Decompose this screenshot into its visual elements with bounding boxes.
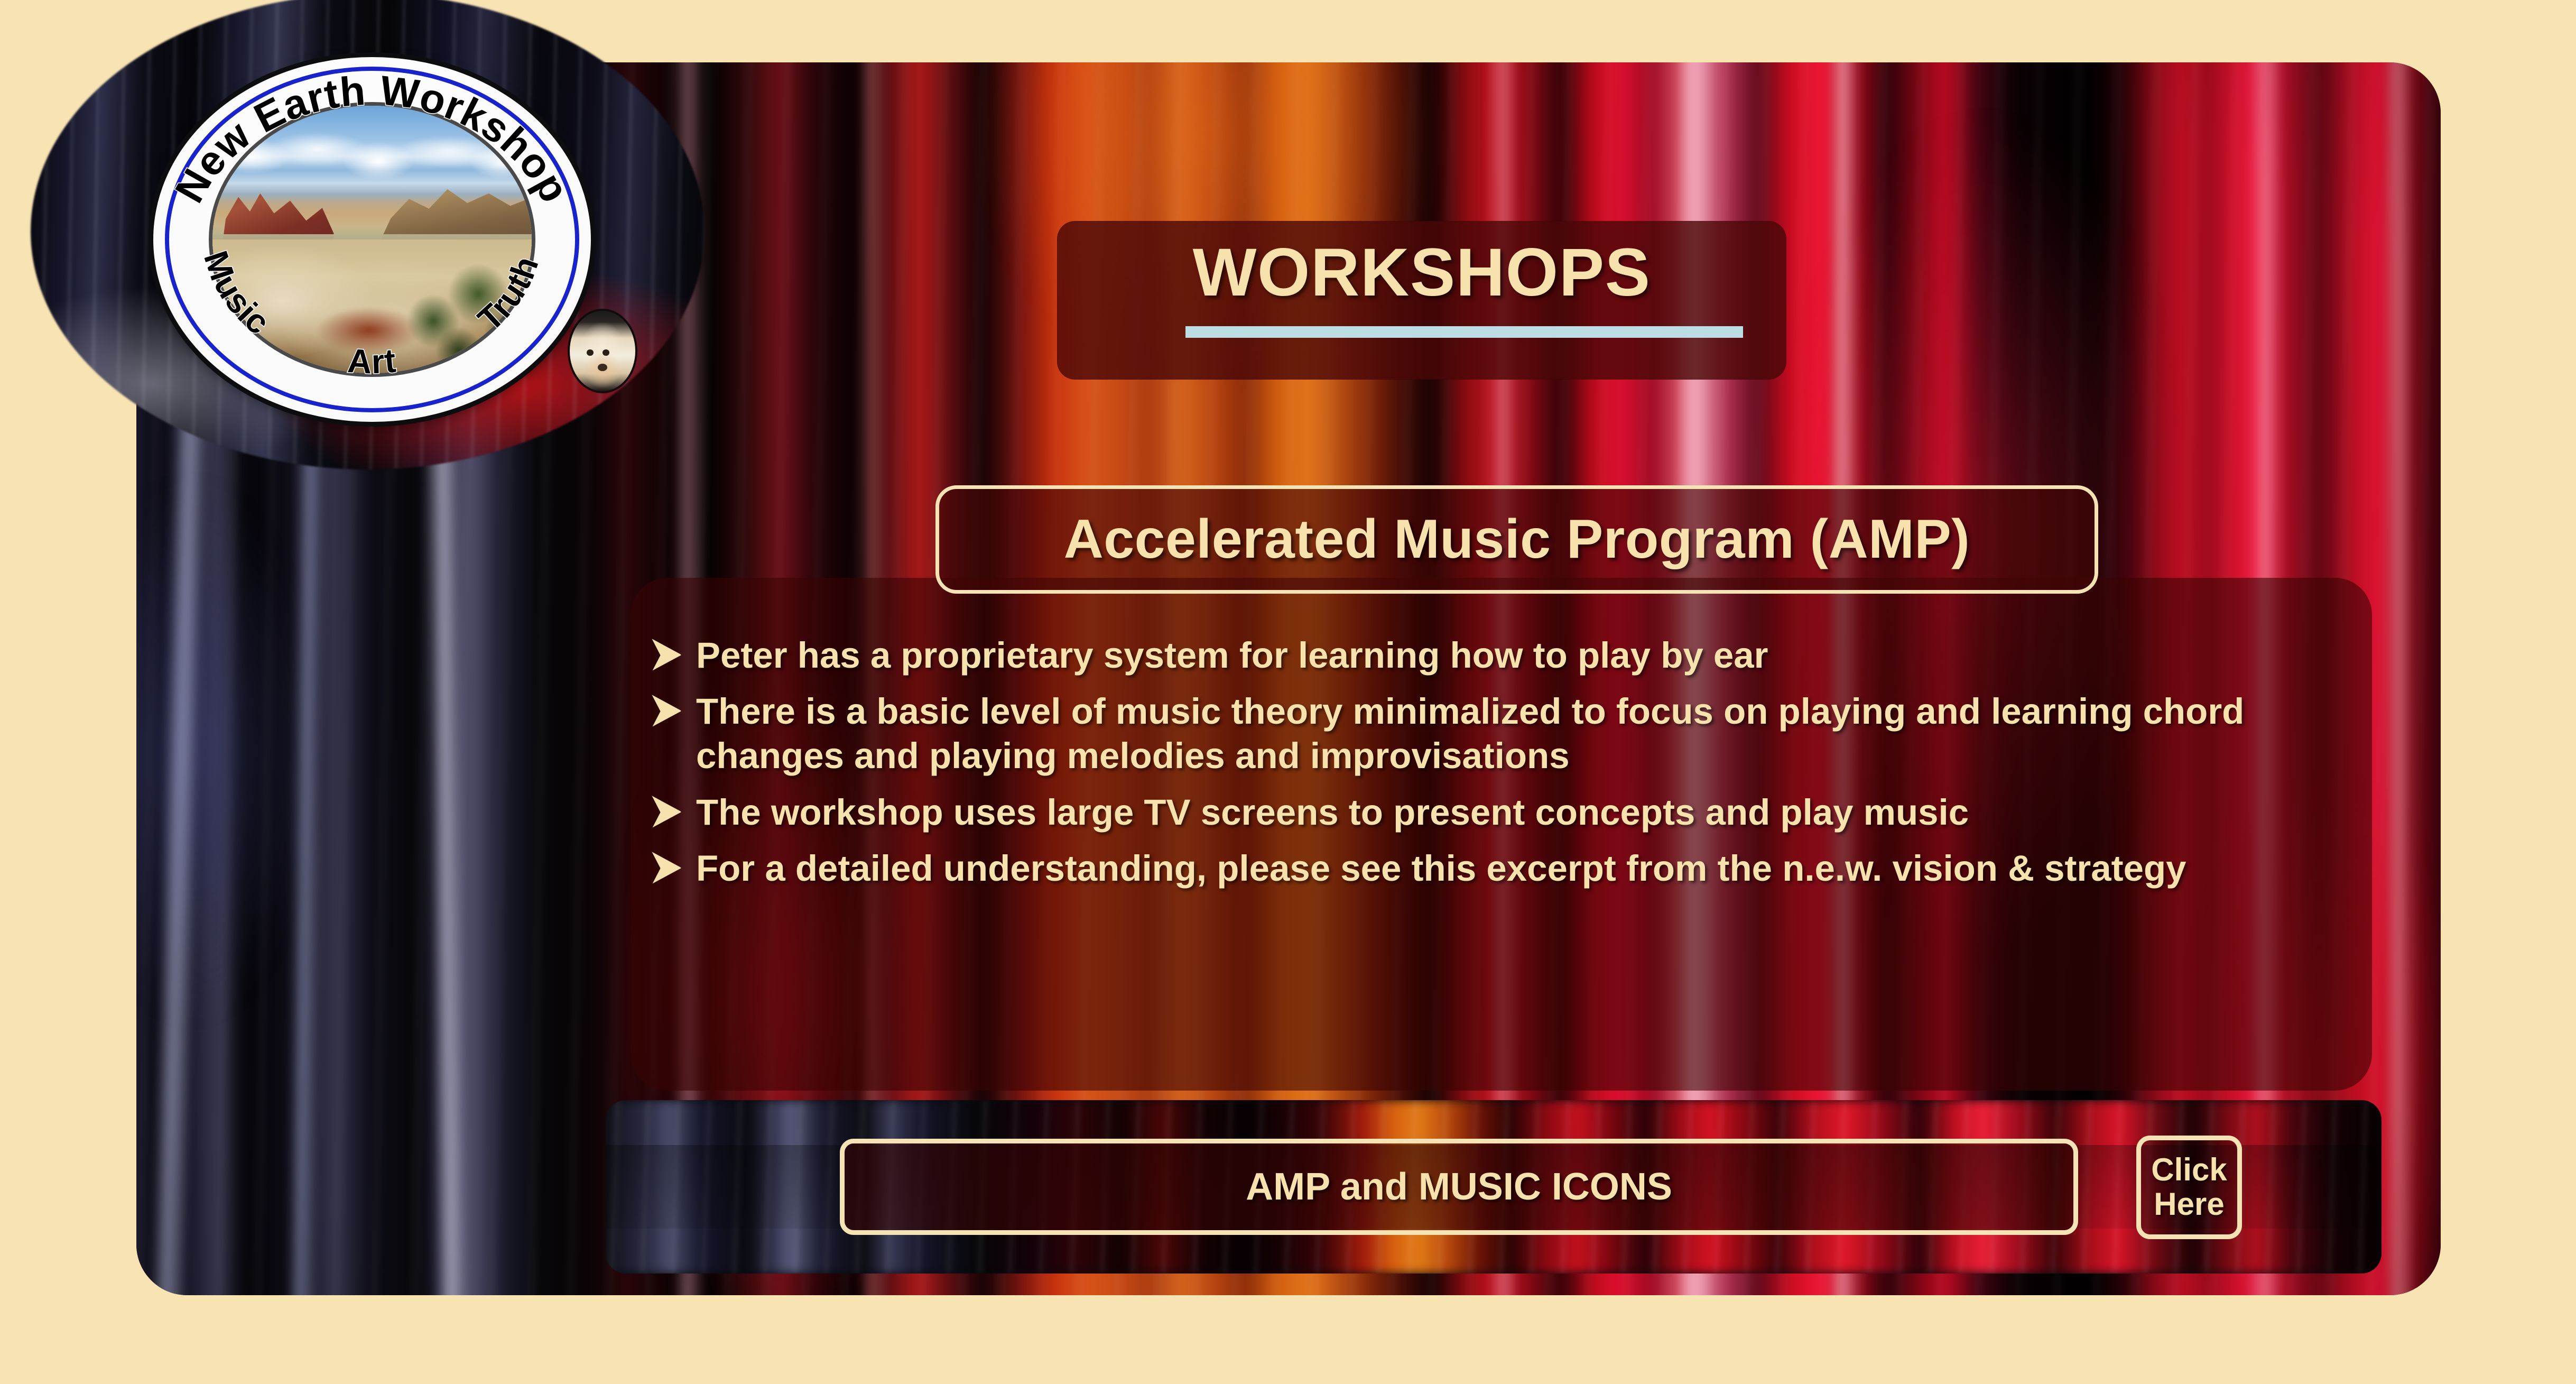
title-panel: WORKSHOPS: [1057, 221, 1786, 380]
logo-top-arc-label: New Earth Workshop: [166, 67, 579, 210]
bullets-panel: Peter has a proprietary system for learn…: [631, 578, 2372, 1091]
list-item: For a detailed understanding, please see…: [651, 846, 2351, 891]
new-earth-workshop-logo[interactable]: New Earth Workshop Music Art Truth: [31, 0, 705, 469]
arrow-bullet-icon: [651, 633, 696, 671]
logo-bottom-arc-art: Art: [347, 341, 398, 381]
click-here-button[interactable]: Click Here: [2136, 1136, 2242, 1239]
bullet-text: The workshop uses large TV screens to pr…: [696, 790, 2351, 835]
list-item: Peter has a proprietary system for learn…: [651, 633, 2351, 678]
bullet-text: Peter has a proprietary system for learn…: [696, 633, 2351, 678]
bullet-text: There is a basic level of music theory m…: [696, 689, 2351, 778]
arrow-bullet-icon: [651, 846, 696, 884]
list-item: The workshop uses large TV screens to pr…: [651, 790, 2351, 835]
program-title-panel: Accelerated Music Program (AMP): [935, 485, 2098, 594]
arrow-bullet-icon: [651, 689, 696, 727]
click-here-line-1: Click: [2151, 1153, 2227, 1187]
action-bar: AMP and MUSIC ICONS Click Here: [606, 1100, 2382, 1274]
logo-bottom-arc-music: Music: [197, 246, 277, 342]
list-item: There is a basic level of music theory m…: [651, 689, 2351, 778]
bullet-text: For a detailed understanding, please see…: [696, 846, 2351, 891]
dog-portrait-badge: [570, 311, 635, 391]
logo-arc-text: New Earth Workshop Music Art Truth: [153, 57, 591, 422]
amp-and-music-icons-label: AMP and MUSIC ICONS: [1246, 1165, 1672, 1208]
page-title: WORKSHOPS: [1057, 239, 1786, 307]
logo-bottom-arc-truth: Truth: [470, 251, 546, 338]
amp-and-music-icons-button[interactable]: AMP and MUSIC ICONS: [840, 1139, 2078, 1235]
arrow-bullet-icon: [651, 790, 696, 828]
program-title: Accelerated Music Program (AMP): [1064, 508, 1970, 571]
title-underline-rule: [1185, 326, 1743, 338]
slide-page: WORKSHOPS Peter has a proprietary system…: [0, 0, 2576, 1384]
click-here-line-2: Here: [2154, 1187, 2224, 1222]
bullet-list: Peter has a proprietary system for learn…: [651, 633, 2351, 902]
